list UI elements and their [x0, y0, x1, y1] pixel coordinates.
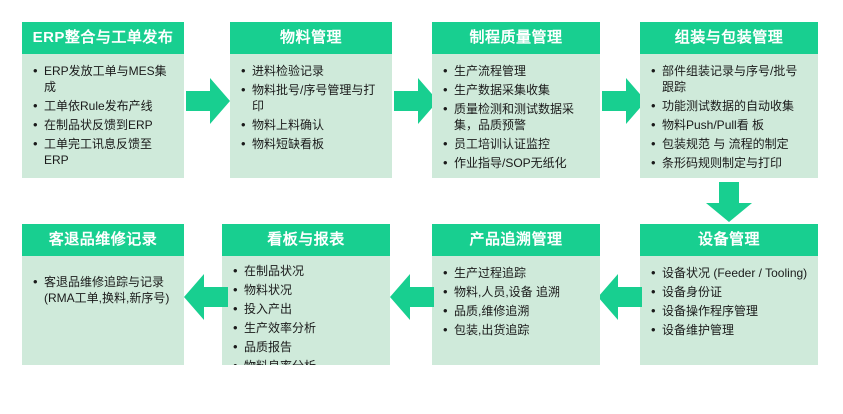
card-material-management[interactable]: 物料管理 进料检验记录 物料批号/序号管理与打印 物料上料确认 物料短缺看板 [230, 22, 392, 178]
list-item: 质量检测和测试数据采集，品质预警 [442, 101, 590, 133]
list-item: 功能测试数据的自动收集 [650, 98, 808, 114]
list-item: 作业指导/SOP无纸化 [442, 155, 590, 171]
card-title-customer-return-repair-records: 客退品维修记录 [22, 224, 184, 256]
card-body-material-management: 进料检验记录 物料批号/序号管理与打印 物料上料确认 物料短缺看板 [230, 54, 392, 161]
list-item: 在制品状反馈到ERP [32, 117, 174, 133]
bullet-list-dashboard-and-reports: 在制品状况 物料状况 投入产出 生产效率分析 品质报告 物料良率分析 订单完成状… [232, 263, 380, 365]
card-title-dashboard-and-reports: 看板与报表 [222, 224, 390, 256]
list-item: 品质,维修追溯 [442, 303, 590, 319]
list-item: 物料上料确认 [240, 117, 382, 133]
bullet-list-equipment-management: 设备状况 (Feeder / Tooling) 设备身份证 设备操作程序管理 设… [650, 265, 808, 338]
list-item: 在制品状况 [232, 263, 380, 279]
arrow-equipment-to-traceability [598, 274, 642, 320]
card-title-erp-integration-and-work-order-release: ERP整合与工单发布 [22, 22, 184, 54]
arrow-assembly-to-equipment [706, 182, 752, 222]
list-item: 生产流程管理 [442, 63, 590, 79]
arrow-erp-to-material [186, 78, 230, 124]
card-title-in-process-quality-management: 制程质量管理 [432, 22, 600, 54]
bullet-list-product-traceability-management: 生产过程追踪 物料,人员,设备 追溯 品质,维修追溯 包装,出货追踪 [442, 265, 590, 338]
card-title-equipment-management: 设备管理 [640, 224, 818, 256]
list-item: 生产数据采集收集 [442, 82, 590, 98]
arrow-traceability-to-dashboard [390, 274, 434, 320]
bullet-list-customer-return-repair-records: 客退品维修追踪与记录 (RMA工单,换料,新序号) [32, 274, 174, 306]
card-body-customer-return-repair-records: 客退品维修追踪与记录 (RMA工单,换料,新序号) [22, 256, 184, 315]
list-item: 条形码规则制定与打印 [650, 155, 808, 171]
list-item: 工单依Rule发布产线 [32, 98, 174, 114]
bullet-list-in-process-quality-management: 生产流程管理 生产数据采集收集 质量检测和测试数据采集，品质预警 员工培训认证监… [442, 63, 590, 171]
card-equipment-management[interactable]: 设备管理 设备状况 (Feeder / Tooling) 设备身份证 设备操作程… [640, 224, 818, 365]
list-item: 物料批号/序号管理与打印 [240, 82, 382, 114]
card-title-assembly-and-packaging-management: 组装与包装管理 [640, 22, 818, 54]
list-item: ERP发放工单与MES集成 [32, 63, 174, 95]
card-in-process-quality-management[interactable]: 制程质量管理 生产流程管理 生产数据采集收集 质量检测和测试数据采集，品质预警 … [432, 22, 600, 178]
list-item: 投入产出 [232, 301, 380, 317]
list-item: 物料状况 [232, 282, 380, 298]
card-body-dashboard-and-reports: 在制品状况 物料状况 投入产出 生产效率分析 品质报告 物料良率分析 订单完成状… [222, 256, 390, 365]
bullet-list-material-management: 进料检验记录 物料批号/序号管理与打印 物料上料确认 物料短缺看板 [240, 63, 382, 152]
list-item: 部件组装记录与序号/批号跟踪 [650, 63, 808, 95]
list-item: 包装,出货追踪 [442, 322, 590, 338]
list-item: 设备维护管理 [650, 322, 808, 338]
bullet-list-assembly-and-packaging-management: 部件组装记录与序号/批号跟踪 功能测试数据的自动收集 物料Push/Pull看 … [650, 63, 808, 171]
card-title-product-traceability-management: 产品追溯管理 [432, 224, 600, 256]
card-body-assembly-and-packaging-management: 部件组装记录与序号/批号跟踪 功能测试数据的自动收集 物料Push/Pull看 … [640, 54, 818, 178]
card-body-in-process-quality-management: 生产流程管理 生产数据采集收集 质量检测和测试数据采集，品质预警 员工培训认证监… [432, 54, 600, 178]
list-item: 包装规范 与 流程的制定 [650, 136, 808, 152]
card-body-equipment-management: 设备状况 (Feeder / Tooling) 设备身份证 设备操作程序管理 设… [640, 256, 818, 347]
list-item: 物料Push/Pull看 板 [650, 117, 808, 133]
list-item: 生产过程追踪 [442, 265, 590, 281]
bullet-list-erp-integration-and-work-order-release: ERP发放工单与MES集成 工单依Rule发布产线 在制品状反馈到ERP 工单完… [32, 63, 174, 168]
list-item: 物料,人员,设备 追溯 [442, 284, 590, 300]
list-item: 进料检验记录 [240, 63, 382, 79]
list-item: 工单完工讯息反馈至ERP [32, 136, 174, 168]
list-item: 员工培训认证监控 [442, 136, 590, 152]
card-title-material-management: 物料管理 [230, 22, 392, 54]
card-erp-integration-and-work-order-release[interactable]: ERP整合与工单发布 ERP发放工单与MES集成 工单依Rule发布产线 在制品… [22, 22, 184, 178]
card-dashboard-and-reports[interactable]: 看板与报表 在制品状况 物料状况 投入产出 生产效率分析 品质报告 物料良率分析… [222, 224, 390, 365]
list-item: 设备状况 (Feeder / Tooling) [650, 265, 808, 281]
card-body-product-traceability-management: 生产过程追踪 物料,人员,设备 追溯 品质,维修追溯 包装,出货追踪 [432, 256, 600, 347]
list-item: 设备身份证 [650, 284, 808, 300]
card-product-traceability-management[interactable]: 产品追溯管理 生产过程追踪 物料,人员,设备 追溯 品质,维修追溯 包装,出货追… [432, 224, 600, 365]
list-item: 设备操作程序管理 [650, 303, 808, 319]
list-item: 物料良率分析 [232, 358, 380, 365]
list-item: 品质报告 [232, 339, 380, 355]
diagram-canvas: ERP整合与工单发布 ERP发放工单与MES集成 工单依Rule发布产线 在制品… [0, 0, 843, 414]
card-assembly-and-packaging-management[interactable]: 组装与包装管理 部件组装记录与序号/批号跟踪 功能测试数据的自动收集 物料Pus… [640, 22, 818, 178]
card-body-erp-integration-and-work-order-release: ERP发放工单与MES集成 工单依Rule发布产线 在制品状反馈到ERP 工单完… [22, 54, 184, 177]
arrow-dashboard-to-return-repair [184, 274, 228, 320]
card-customer-return-repair-records[interactable]: 客退品维修记录 客退品维修追踪与记录 (RMA工单,换料,新序号) [22, 224, 184, 365]
list-item: 生产效率分析 [232, 320, 380, 336]
list-item: 物料短缺看板 [240, 136, 382, 152]
list-item: 客退品维修追踪与记录 (RMA工单,换料,新序号) [32, 274, 174, 306]
